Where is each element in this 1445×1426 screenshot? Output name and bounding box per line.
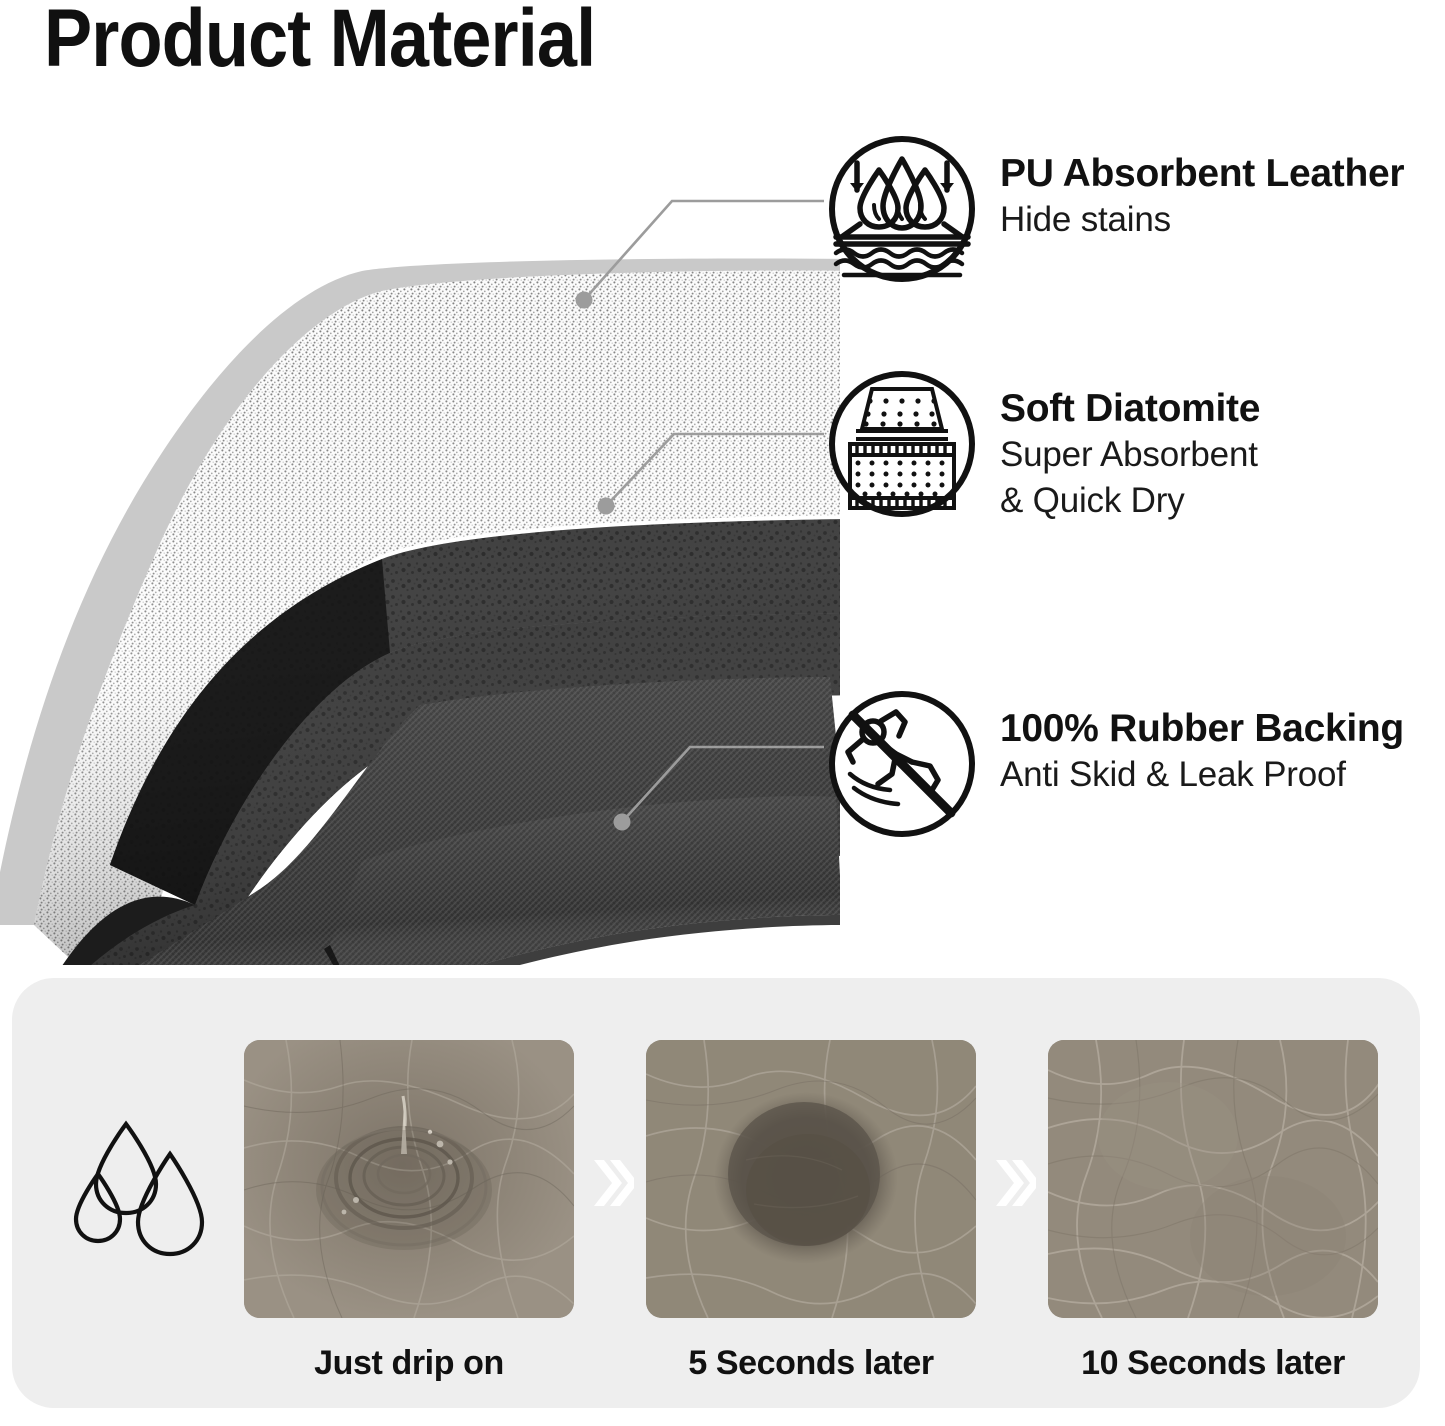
demo-caption: 10 Seconds later: [1048, 1344, 1378, 1383]
feature-subtitle-line: & Quick Dry: [1000, 478, 1260, 524]
double-chevron-right-icon: [992, 1156, 1036, 1210]
feature-subtitle-line: Super Absorbent: [1000, 432, 1260, 478]
marble-texture: [1048, 1040, 1378, 1318]
material-layers-illustration: [0, 225, 840, 965]
water-absorption-icon: [826, 133, 978, 285]
feature-callout-rubber-backing: 100% Rubber Backing Anti Skid & Leak Pro…: [826, 688, 1404, 840]
diatomite-layers-icon: [826, 368, 978, 520]
feature-text-block: Soft Diatomite Super Absorbent & Quick D…: [1000, 368, 1260, 523]
demo-step-5-seconds-later: 5 Seconds later: [646, 1040, 976, 1383]
page-title: Product Material: [44, 0, 595, 82]
absorption-demo-panel: Just drip on: [12, 978, 1420, 1408]
double-chevron-right-icon: [590, 1156, 634, 1210]
demo-step-just-drip-on: Just drip on: [244, 1040, 574, 1383]
feature-heading: Soft Diatomite: [1000, 386, 1260, 432]
demo-photo-wet-stain: [646, 1040, 976, 1318]
feature-heading: 100% Rubber Backing: [1000, 706, 1404, 752]
demo-step-10-seconds-later: 10 Seconds later: [1048, 1040, 1378, 1383]
demo-caption: 5 Seconds later: [646, 1344, 976, 1383]
feature-subtitle-line: Hide stains: [1000, 197, 1404, 243]
feature-text-block: PU Absorbent Leather Hide stains: [1000, 133, 1404, 243]
water-droplets-icon: [64, 1116, 232, 1266]
no-slip-icon: [826, 688, 978, 840]
feature-heading: PU Absorbent Leather: [1000, 151, 1404, 197]
feature-text-block: 100% Rubber Backing Anti Skid & Leak Pro…: [1000, 688, 1404, 798]
feature-callout-soft-diatomite: Soft Diatomite Super Absorbent & Quick D…: [826, 368, 1260, 523]
demo-photo-dry: [1048, 1040, 1378, 1318]
demo-photo-splash: [244, 1040, 574, 1318]
feature-subtitle-line: Anti Skid & Leak Proof: [1000, 752, 1404, 798]
marble-texture: [244, 1040, 574, 1318]
demo-caption: Just drip on: [244, 1344, 574, 1383]
marble-texture: [646, 1040, 976, 1318]
feature-callout-pu-absorbent-leather: PU Absorbent Leather Hide stains: [826, 133, 1404, 285]
